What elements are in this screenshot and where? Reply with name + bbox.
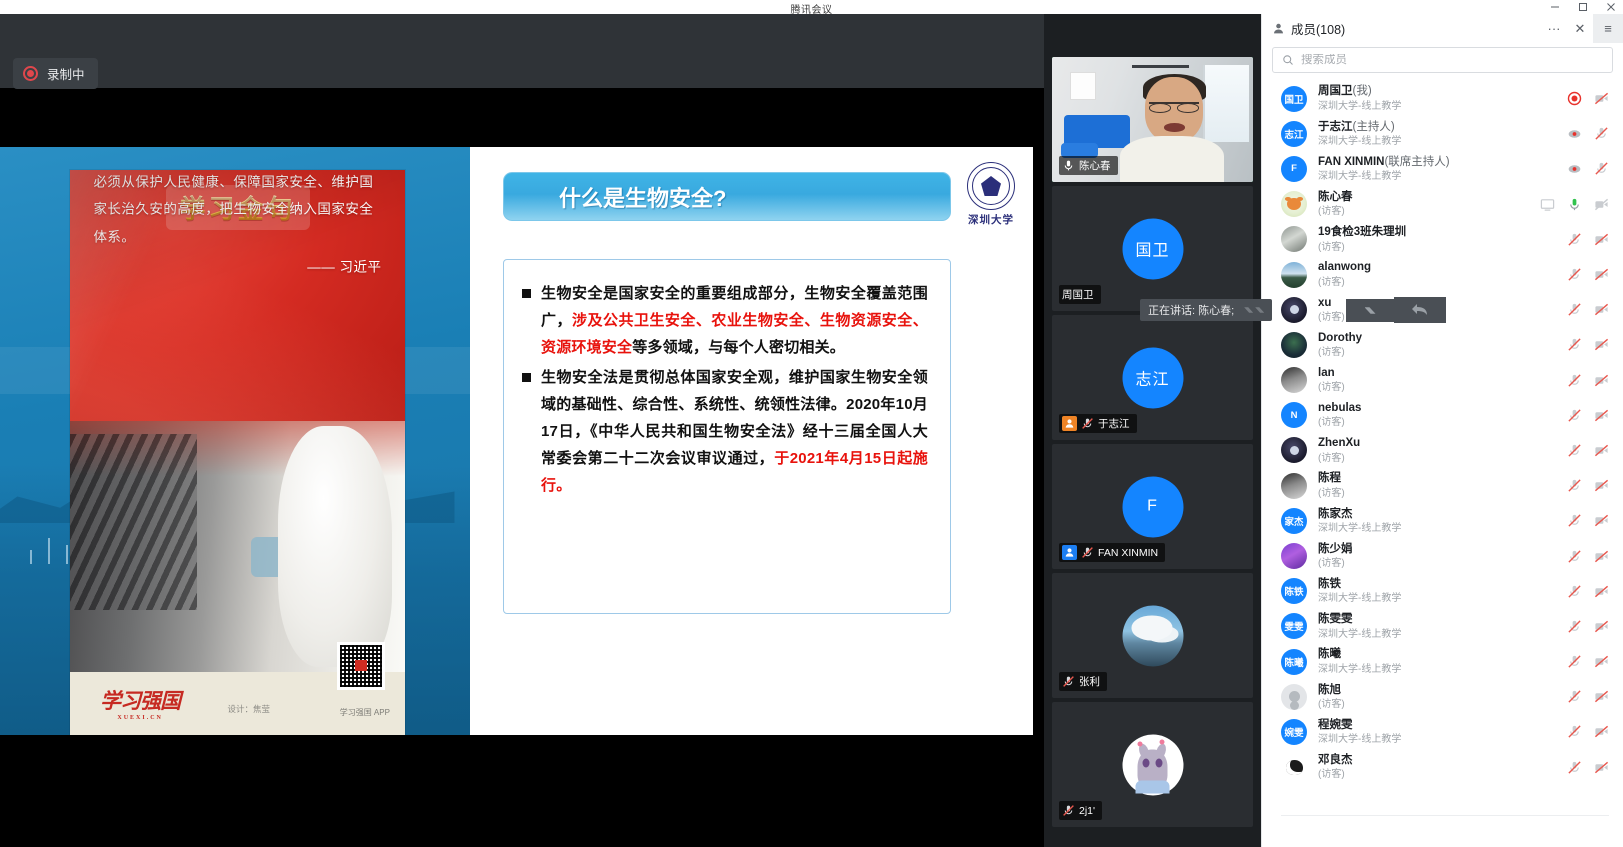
participant-icons: [1540, 197, 1609, 212]
shared-slide[interactable]: 什么是生物安全? 深圳大学 生物安全是国家安全的重要组成部分，生物安全覆盖范围广…: [0, 147, 1033, 735]
poster-lab-mask-icon: [251, 537, 318, 577]
room-shelf-decor: [1132, 65, 1188, 69]
close-icon[interactable]: ✕: [1567, 14, 1593, 43]
slide-bullet-text-2: 生物安全法是贯彻总体国家安全观，维护国家生物安全领域的基础性、综合性、系统性、统…: [541, 364, 928, 499]
video-tile-3[interactable]: F FAN XINMIN: [1052, 444, 1253, 569]
tile-label: 陈心春: [1059, 156, 1118, 175]
participant-name: 陈心春: [1318, 190, 1540, 204]
slide-body-box: 生物安全是国家安全的重要组成部分，生物安全覆盖范围广，涉及公共卫生安全、农业生物…: [503, 259, 951, 614]
mic-muted-icon[interactable]: [1567, 302, 1582, 317]
share-eye-icon[interactable]: [1567, 161, 1582, 176]
participant-name: ZhenXu: [1318, 436, 1567, 450]
participant-icons: [1567, 724, 1609, 739]
participant-name: FAN XINMIN(联席主持人): [1318, 155, 1567, 169]
mic-muted-icon[interactable]: [1567, 760, 1582, 775]
participant-icons: [1567, 267, 1609, 282]
screen-share-icon[interactable]: [1540, 197, 1555, 212]
toast-chevron-overlay: [1346, 299, 1394, 322]
avatar: [1281, 437, 1307, 463]
camera-off-icon[interactable]: [1594, 584, 1609, 599]
participant-name: 邓良杰: [1318, 753, 1567, 767]
participant-row[interactable]: 国卫 周国卫(我) 深圳大学-线上教学: [1262, 81, 1623, 116]
participant-org: (访客): [1318, 276, 1567, 289]
share-eye-icon[interactable]: [1567, 126, 1582, 141]
search-input[interactable]: [1301, 54, 1603, 66]
participants-count-title: 成员(108): [1291, 19, 1345, 38]
participant-org: (访客): [1318, 241, 1567, 254]
tile-label: 张利: [1059, 672, 1107, 691]
participants-list[interactable]: 国卫 周国卫(我) 深圳大学-线上教学 志江 于志江(主持人) 深圳大学-线上教…: [1262, 81, 1623, 837]
participant-name-text: 周国卫: [1318, 85, 1353, 97]
video-tile-2[interactable]: 志江 于志江: [1052, 315, 1253, 440]
avatar: 国卫: [1122, 218, 1183, 279]
slide-content-panel: 什么是生物安全? 深圳大学 生物安全是国家安全的重要组成部分，生物安全覆盖范围广…: [470, 147, 1033, 735]
mic-muted-icon[interactable]: [1567, 619, 1582, 634]
camera-off-icon[interactable]: [1594, 549, 1609, 564]
mic-muted-icon: [1062, 675, 1075, 688]
participant-row[interactable]: 家杰 陈家杰 深圳大学-线上教学: [1262, 503, 1623, 538]
participant-info: 陈雯雯 深圳大学-线上教学: [1318, 612, 1567, 640]
camera-off-icon[interactable]: [1594, 724, 1609, 739]
participant-info: 于志江(主持人) 深圳大学-线上教学: [1318, 120, 1567, 148]
poster-quote-author: —— 习近平: [93, 253, 381, 281]
slide-bullet: 生物安全是国家安全的重要组成部分，生物安全覆盖范围广，涉及公共卫生安全、农业生物…: [522, 280, 928, 361]
avatar: 雯雯: [1281, 613, 1307, 639]
stage-topbar: [0, 14, 1044, 88]
avatar-initials: 志江: [1284, 127, 1303, 141]
mic-muted-icon[interactable]: [1567, 232, 1582, 247]
participant-org: 深圳大学-线上教学: [1318, 663, 1567, 676]
record-icon: [23, 66, 38, 81]
participant-info: Dorothy (访客): [1318, 331, 1567, 359]
participant-icons: [1567, 373, 1609, 388]
speaking-now-text: 正在讲话: 陈心春;: [1148, 302, 1234, 318]
mic-muted-icon[interactable]: [1567, 724, 1582, 739]
participant-name: 陈程: [1318, 471, 1567, 485]
avatar: 志江: [1122, 347, 1183, 408]
participant-name: 程婉雯: [1318, 718, 1567, 732]
participant-icons: [1567, 760, 1609, 775]
video-tile-0[interactable]: 陈心春: [1052, 57, 1253, 182]
participant-row[interactable]: 志江 于志江(主持人) 深圳大学-线上教学: [1262, 116, 1623, 151]
window-controls: [1549, 0, 1617, 14]
mic-on-icon[interactable]: [1567, 197, 1582, 212]
tile-name: 陈心春: [1079, 158, 1111, 173]
participant-row[interactable]: N nebulas (访客): [1262, 398, 1623, 433]
mic-muted-icon[interactable]: [1567, 373, 1582, 388]
camera-off-icon[interactable]: [1594, 197, 1609, 212]
participant-info: nebulas (访客): [1318, 401, 1567, 429]
participant-org: 深圳大学-线上教学: [1318, 628, 1567, 641]
participant-org: (访客): [1318, 416, 1567, 429]
chevrons-icon: [1244, 306, 1264, 315]
mic-muted-icon[interactable]: [1567, 408, 1582, 423]
avatar: [1281, 754, 1307, 780]
participant-org: 深圳大学-线上教学: [1318, 733, 1567, 746]
mic-muted-icon: [1081, 546, 1094, 559]
avatar-initials: F: [1291, 163, 1297, 174]
participant-info: 周国卫(我) 深圳大学-线上教学: [1318, 84, 1567, 112]
participant-name: 陈家杰: [1318, 507, 1567, 521]
seg-plain-2: 。: [556, 477, 571, 494]
participant-info: 陈心春 (访客): [1318, 190, 1540, 218]
participant-org: 深圳大学-线上教学: [1318, 135, 1567, 148]
mic-muted-icon[interactable]: [1567, 478, 1582, 493]
room-art-decor: [1070, 72, 1096, 100]
participant-role: (主持人): [1353, 121, 1395, 133]
camera-off-icon[interactable]: [1594, 760, 1609, 775]
participant-org: (访客): [1318, 557, 1567, 570]
participant-info: FAN XINMIN(联席主持人) 深圳大学-线上教学: [1318, 155, 1567, 183]
poster-red-banner: 学习金句 必须从保护人民健康、保障国家安全、维护国家长治久安的高度，把生物安全纳…: [70, 170, 405, 421]
mic-on-icon: [1062, 159, 1075, 172]
participant-org: (访客): [1318, 381, 1567, 394]
avatar: [1281, 684, 1307, 710]
search-wrapper: [1262, 43, 1623, 81]
poster-quote-text: 必须从保护人民健康、保障国家安全、维护国家长治久安的高度，把生物安全纳入国家安全…: [93, 174, 373, 244]
speaking-now-toast: 正在讲话: 陈心春;: [1140, 299, 1272, 321]
participant-icons: [1567, 513, 1609, 528]
camera-off-icon[interactable]: [1594, 654, 1609, 669]
participant-icons: [1567, 408, 1609, 423]
participant-name: alanwong: [1318, 260, 1567, 274]
avatar-initials: N: [1291, 410, 1298, 421]
participant-name: nebulas: [1318, 401, 1567, 415]
video-filmstrip: 陈心春 国卫 周国卫 志江 于志江 F: [1044, 14, 1261, 847]
participant-name-text: FAN XINMIN: [1318, 156, 1384, 168]
participant-icons: [1567, 443, 1609, 458]
mic-muted-icon[interactable]: [1567, 443, 1582, 458]
avatar: [1281, 367, 1307, 393]
avatar: [1281, 473, 1307, 499]
mic-muted-icon: [1081, 417, 1094, 430]
mic-muted-icon: [1062, 804, 1075, 817]
avatar: 婉雯: [1281, 719, 1307, 745]
poster-lab-photo: [70, 421, 405, 672]
maximize-button[interactable]: [1577, 1, 1589, 13]
mic-muted-icon[interactable]: [1594, 161, 1609, 176]
camera-off-icon[interactable]: [1594, 408, 1609, 423]
mic-muted-icon[interactable]: [1567, 584, 1582, 599]
camera-off-icon[interactable]: [1594, 302, 1609, 317]
participant-icons: [1567, 549, 1609, 564]
bullet-square-icon: [522, 289, 531, 298]
participant-icons: [1567, 126, 1609, 141]
avatar: [1281, 297, 1307, 323]
participant-info: 陈曦 深圳大学-线上教学: [1318, 647, 1567, 675]
camera-off-icon[interactable]: [1594, 373, 1609, 388]
record-dot-icon[interactable]: [1567, 91, 1582, 106]
participant-name-text: 于志江: [1318, 121, 1353, 133]
tile-name: 于志江: [1098, 416, 1130, 431]
participant-name: 陈少娟: [1318, 542, 1567, 556]
poster-badge-text: 学习金句: [179, 195, 295, 224]
mic-muted-icon[interactable]: [1567, 654, 1582, 669]
university-logo-text: 深圳大学: [968, 212, 1014, 227]
camera-off-icon[interactable]: [1594, 478, 1609, 493]
tile-name: 张利: [1079, 674, 1100, 689]
participant-name: 周国卫(我): [1318, 84, 1567, 98]
tile-name: 周国卫: [1062, 287, 1094, 302]
camera-off-icon[interactable]: [1594, 267, 1609, 282]
close-button[interactable]: [1605, 1, 1617, 13]
participant-row[interactable]: lan (访客): [1262, 363, 1623, 398]
video-tile-4[interactable]: 张利: [1052, 573, 1253, 698]
slide-title: 什么是生物安全?: [559, 181, 726, 213]
room-sofa-decor: [1064, 115, 1130, 149]
participant-icons: [1567, 584, 1609, 599]
participant-info: 陈少娟 (访客): [1318, 542, 1567, 570]
participant-name: lan: [1318, 366, 1567, 380]
poster-logo-pinyin: XUEXI.CN: [100, 715, 180, 721]
slide-bullet: 生物安全法是贯彻总体国家安全观，维护国家生物安全领域的基础性、综合性、系统性、统…: [522, 364, 928, 499]
participant-icons: [1567, 91, 1609, 106]
avatar: [1122, 605, 1183, 666]
avatar: 家杰: [1281, 508, 1307, 534]
mic-muted-icon[interactable]: [1594, 126, 1609, 141]
tile-label: 周国卫: [1059, 285, 1101, 304]
participant-row[interactable]: 陈程 (访客): [1262, 468, 1623, 503]
university-logo: 深圳大学: [963, 162, 1019, 232]
participant-icons: [1567, 161, 1609, 176]
poster-qr-label: 学习强国 APP: [340, 707, 390, 718]
participant-name: 陈雯雯: [1318, 612, 1567, 626]
avatar-initials: 陈铁: [1284, 584, 1303, 598]
camera-off-icon[interactable]: [1594, 619, 1609, 634]
participant-row[interactable]: 雯雯 陈雯雯 深圳大学-线上教学: [1262, 609, 1623, 644]
participant-row[interactable]: 陈少娟 (访客): [1262, 538, 1623, 573]
avatar: 国卫: [1281, 86, 1307, 112]
camera-off-icon[interactable]: [1594, 337, 1609, 352]
camera-off-icon[interactable]: [1594, 232, 1609, 247]
participant-row[interactable]: 婉雯 程婉雯 深圳大学-线上教学: [1262, 714, 1623, 749]
slide-bullet-text-1: 生物安全是国家安全的重要组成部分，生物安全覆盖范围广，涉及公共卫生安全、农业生物…: [541, 280, 928, 361]
participant-org: 深圳大学-线上教学: [1318, 100, 1567, 113]
recording-label: 录制中: [47, 64, 85, 83]
participant-org: (访客): [1318, 698, 1567, 711]
participant-info: 陈旭 (访客): [1318, 683, 1567, 711]
camera-off-icon[interactable]: [1594, 513, 1609, 528]
participant-row[interactable]: Dorothy (访客): [1262, 327, 1623, 362]
participant-row[interactable]: 19食检3班朱理圳 (访客): [1262, 222, 1623, 257]
avatar-initials: 家杰: [1284, 514, 1303, 528]
mic-muted-icon[interactable]: [1567, 337, 1582, 352]
seg-plain-2: 等多领域，与每个人密切相关。: [632, 339, 845, 356]
participant-info: 陈家杰 深圳大学-线上教学: [1318, 507, 1567, 535]
camera-off-icon[interactable]: [1594, 689, 1609, 704]
tile-label: 于志江: [1059, 414, 1137, 433]
more-options-icon[interactable]: ···: [1541, 14, 1567, 43]
participant-icons: [1567, 302, 1609, 317]
participant-info: 程婉雯 深圳大学-线上教学: [1318, 718, 1567, 746]
avatar: [1281, 226, 1307, 252]
avatar-initials: 陈曦: [1284, 655, 1303, 669]
tile-name: FAN XINMIN: [1098, 547, 1158, 559]
participant-name-text: 陈心春: [1318, 191, 1353, 203]
search-icon: [1282, 54, 1294, 66]
participant-org: (访客): [1318, 346, 1567, 359]
mic-muted-icon[interactable]: [1567, 267, 1582, 282]
participant-info: 邓良杰 (访客): [1318, 753, 1567, 781]
panel-header-actions: ··· ✕ ≡: [1541, 14, 1623, 43]
poster-quote: 必须从保护人民健康、保障国家安全、维护国家长治久安的高度，把生物安全纳入国家安全…: [93, 170, 381, 281]
bullet-square-icon: [522, 373, 531, 382]
qr-code-icon: [337, 642, 385, 690]
window-titlebar: 腾讯会议: [0, 0, 1623, 14]
participant-role: (我): [1353, 85, 1372, 97]
host-badge-icon: [1062, 416, 1077, 431]
participant-role: (联席主持人): [1384, 156, 1449, 168]
participants-panel: 成员(108) ··· ✕ ≡ 国卫 周国卫(我) 深圳大学-线上教学: [1261, 14, 1623, 847]
participant-name: 陈旭: [1318, 683, 1567, 697]
participant-info: 陈铁 深圳大学-线上教学: [1318, 577, 1567, 605]
avatar: 陈铁: [1281, 578, 1307, 604]
participant-info: ZhenXu (访客): [1318, 436, 1567, 464]
participant-org: (访客): [1318, 205, 1540, 218]
avatar: [1281, 543, 1307, 569]
reply-arrow-icon: [1410, 302, 1430, 318]
participant-org: (访客): [1318, 487, 1567, 500]
participant-icons: [1567, 232, 1609, 247]
search-box[interactable]: [1272, 47, 1613, 73]
participant-row[interactable]: F FAN XINMIN(联席主持人) 深圳大学-线上教学: [1262, 151, 1623, 186]
participant-icons: [1567, 619, 1609, 634]
avatar: [1281, 332, 1307, 358]
participant-row[interactable]: alanwong (访客): [1262, 257, 1623, 292]
participant-org: (访客): [1318, 452, 1567, 465]
participant-name: 陈曦: [1318, 647, 1567, 661]
participant-name: 于志江(主持人): [1318, 120, 1567, 134]
participant-info: 陈程 (访客): [1318, 471, 1567, 499]
toast-reply-overlay[interactable]: [1394, 297, 1446, 323]
participant-icons: [1567, 337, 1609, 352]
avatar: F: [1122, 476, 1183, 537]
avatar-initials: 雯雯: [1284, 619, 1303, 633]
tile-label: FAN XINMIN: [1059, 543, 1165, 562]
participant-icons: [1567, 478, 1609, 493]
video-tile-1[interactable]: 国卫 周国卫: [1052, 186, 1253, 311]
participant-row[interactable]: 邓良杰 (访客): [1262, 750, 1623, 785]
avatar-initials: 志江: [1135, 366, 1169, 390]
avatar-initials: 婉雯: [1284, 725, 1303, 739]
participant-row[interactable]: 陈曦 陈曦 深圳大学-线上教学: [1262, 644, 1623, 679]
mic-muted-icon[interactable]: [1567, 513, 1582, 528]
avatar: N: [1281, 402, 1307, 428]
cohost-badge-icon: [1062, 545, 1077, 560]
poster-logo-text: 学习强国: [100, 689, 180, 713]
tile-name: 2j1': [1079, 805, 1095, 817]
slide-poster-image: 学习金句 必须从保护人民健康、保障国家安全、维护国家长治久安的高度，把生物安全纳…: [70, 170, 405, 735]
participant-org: (访客): [1318, 768, 1567, 781]
mic-muted-icon[interactable]: [1567, 689, 1582, 704]
participant-row[interactable]: 陈铁 陈铁 深圳大学-线上教学: [1262, 574, 1623, 609]
avatar: 志江: [1281, 121, 1307, 147]
tile-label: 2j1': [1059, 801, 1102, 820]
camera-off-icon[interactable]: [1594, 91, 1609, 106]
poster-credit: 设计：焦莹: [227, 703, 270, 715]
participants-panel-header: 成员(108) ··· ✕ ≡: [1262, 14, 1623, 43]
avatar-initials: 国卫: [1135, 237, 1169, 261]
avatar: [1122, 734, 1183, 795]
participant-info: lan (访客): [1318, 366, 1567, 394]
hamburger-menu-icon[interactable]: ≡: [1593, 14, 1623, 43]
avatar: [1281, 262, 1307, 288]
camera-off-icon[interactable]: [1594, 443, 1609, 458]
avatar: [1281, 191, 1307, 217]
minimize-button[interactable]: [1549, 1, 1561, 13]
app-root: 腾讯会议 录制中: [0, 0, 1623, 847]
avatar: F: [1281, 156, 1307, 182]
people-icon: [1272, 22, 1285, 35]
recording-indicator[interactable]: 录制中: [13, 58, 98, 89]
participant-info: alanwong (访客): [1318, 260, 1567, 288]
person-figure: [1132, 77, 1237, 182]
avatar-initials: F: [1147, 498, 1158, 516]
avatar-initials: 国卫: [1284, 92, 1303, 106]
list-divider: [1281, 815, 1609, 816]
participant-icons: [1567, 689, 1609, 704]
university-seal-icon: [967, 162, 1015, 210]
video-tile-5[interactable]: 2j1': [1052, 702, 1253, 827]
poster-badge: 学习金句: [165, 185, 309, 230]
participant-row[interactable]: 陈旭 (访客): [1262, 679, 1623, 714]
meeting-stage: 录制中 什么是生物安全? 深圳大学: [0, 14, 1044, 847]
participant-row[interactable]: 陈心春 (访客): [1262, 187, 1623, 222]
participant-name: Dorothy: [1318, 331, 1567, 345]
participant-info: 19食检3班朱理圳 (访客): [1318, 225, 1567, 253]
participant-org: 深圳大学-线上教学: [1318, 592, 1567, 605]
participant-row[interactable]: ZhenXu (访客): [1262, 433, 1623, 468]
avatar: 陈曦: [1281, 649, 1307, 675]
participant-name: 陈铁: [1318, 577, 1567, 591]
participant-icons: [1567, 654, 1609, 669]
participant-org: 深圳大学-线上教学: [1318, 522, 1567, 535]
participant-name: 19食检3班朱理圳: [1318, 225, 1567, 239]
xuexiqiangguo-logo: 学习强国 XUEXI.CN: [100, 685, 180, 721]
slide-title-banner: 什么是生物安全?: [503, 172, 951, 221]
participant-org: 深圳大学-线上教学: [1318, 170, 1567, 183]
mic-muted-icon[interactable]: [1567, 549, 1582, 564]
